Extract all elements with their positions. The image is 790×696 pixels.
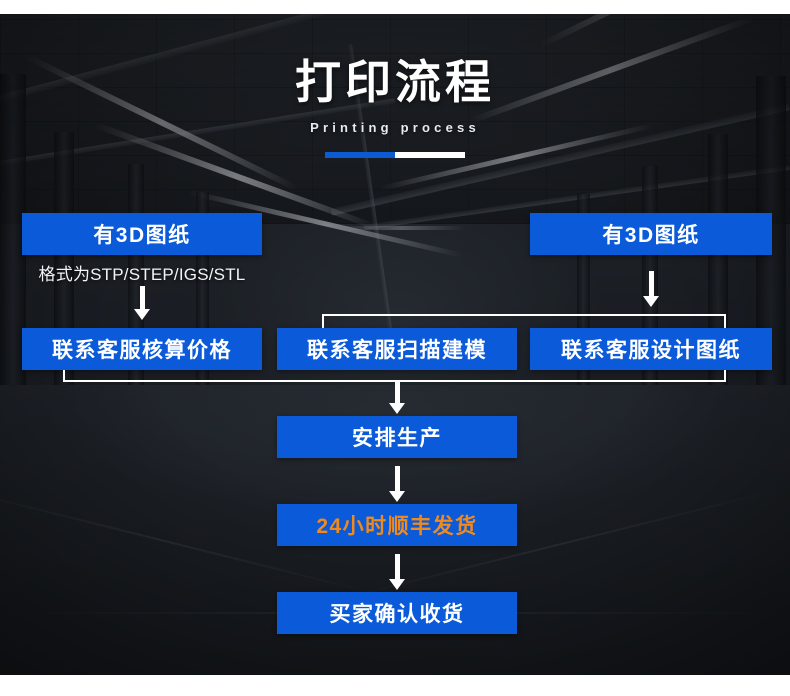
flow-box-label: 联系客服核算价格 <box>52 334 232 364</box>
flow-box-label: 买家确认收货 <box>330 598 465 628</box>
flow-box-label: 安排生产 <box>352 422 442 452</box>
flow-box-label: 联系客服设计图纸 <box>561 334 741 364</box>
flow-box-has-3d-drawing-right[interactable]: 有3D图纸 <box>530 213 772 255</box>
arrow-head <box>389 579 405 590</box>
flow-box-label: 有3D图纸 <box>602 219 699 249</box>
connector-stub-right-top <box>724 314 726 328</box>
format-note: 格式为STP/STEP/IGS/STL <box>22 260 262 285</box>
arrow-shaft <box>649 271 654 296</box>
flowchart-banner: 打印流程 Printing process 有3D图纸 有3D图纸 格式为STP… <box>0 0 790 696</box>
arrow-shipping-to-confirm <box>377 554 417 590</box>
arrow-production-to-shipping <box>377 466 417 502</box>
arrow-shaft <box>395 382 400 403</box>
flow-box-contact-scan-modeling[interactable]: 联系客服扫描建模 <box>277 328 517 370</box>
connector-stub-middle-top <box>322 315 324 329</box>
flow-box-label: 有3D图纸 <box>93 219 190 249</box>
flow-box-has-3d-drawing-left[interactable]: 有3D图纸 <box>22 213 262 255</box>
connector-stub-right-bottom <box>724 370 726 382</box>
arrow-head <box>134 309 150 320</box>
arrow-shaft <box>395 466 400 491</box>
arrow-left-to-pricing <box>122 286 162 320</box>
flow-box-contact-pricing[interactable]: 联系客服核算价格 <box>22 328 262 370</box>
flow-box-24h-sf-shipping[interactable]: 24小时顺丰发货 <box>277 504 517 546</box>
arrow-head <box>389 403 405 414</box>
flow-box-buyer-confirm-receipt[interactable]: 买家确认收货 <box>277 592 517 634</box>
flow-box-label: 联系客服扫描建模 <box>307 334 487 364</box>
arrow-shaft <box>395 554 400 579</box>
arrow-head <box>643 296 659 307</box>
process-flow-diagram: 有3D图纸 有3D图纸 格式为STP/STEP/IGS/STL 联系客服核算价格… <box>0 0 790 696</box>
flow-box-contact-design-drawing[interactable]: 联系客服设计图纸 <box>530 328 772 370</box>
connector-top-horizontal <box>322 314 726 316</box>
arrow-head <box>389 491 405 502</box>
flow-box-arrange-production[interactable]: 安排生产 <box>277 416 517 458</box>
arrow-shaft <box>140 286 145 309</box>
arrow-to-arrange-production <box>377 382 417 414</box>
arrow-right-to-design <box>631 271 671 307</box>
flow-box-label: 24小时顺丰发货 <box>316 510 477 540</box>
